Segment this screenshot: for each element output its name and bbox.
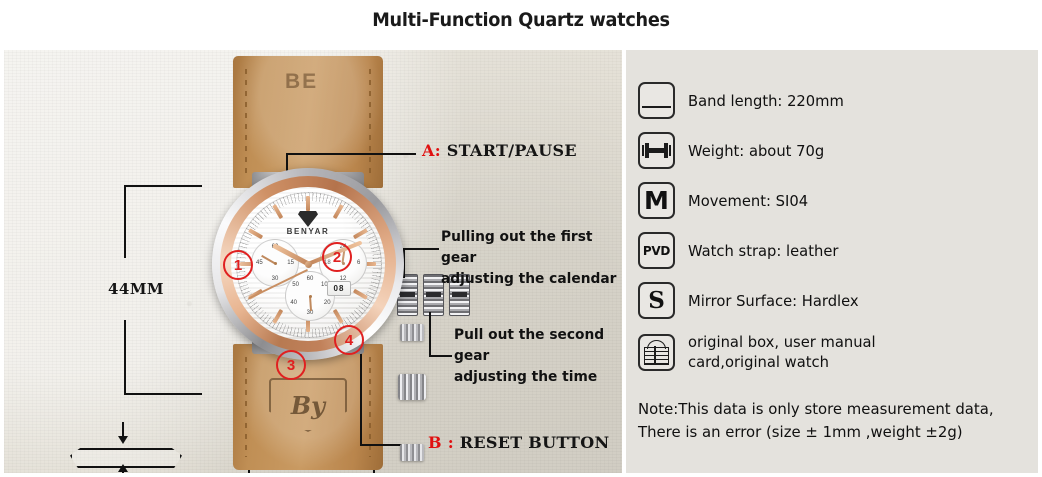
center-pin <box>305 261 312 268</box>
strap-emboss-bottom: By <box>269 378 347 432</box>
spec-weight-text: Weight: about 70g <box>688 141 824 161</box>
subdial-pin <box>309 295 312 298</box>
watch-diagram-panel: 44MM 22MM BE By <box>4 50 622 473</box>
weight-icon-part <box>664 143 668 158</box>
note-line1: Note:This data is only store measurement… <box>638 398 1022 421</box>
case-width-label: 44MM <box>101 280 171 298</box>
callout-a-label: A: START/PAUSE <box>422 141 577 160</box>
callout-badge-2: 2 <box>322 242 352 272</box>
spec-row-movement: M Movement: SI04 <box>638 182 1034 219</box>
subdial-tick: 40 <box>290 300 297 306</box>
spec-row-mirror-surface: S Mirror Surface: Hardlex <box>638 282 1034 319</box>
arrow-down-icon <box>122 422 124 438</box>
second-gear-note-line1: Pull out the second gear <box>454 325 622 367</box>
second-gear-leader-horizontal <box>429 355 452 357</box>
specifications-panel: Band length: 220mm Weight: about 70g M M… <box>626 50 1038 473</box>
callout-b-label: B : RESET BUTTON <box>428 433 609 452</box>
gift-box-icon <box>638 334 675 371</box>
brand-name: BENYAR <box>231 227 385 236</box>
watch-dial: BENYAR 60 15 30 45 24 6 <box>231 187 385 341</box>
spec-movement-text: Movement: SI04 <box>688 191 808 211</box>
callout-badge-3: 3 <box>276 350 306 380</box>
first-gear-note-line1: Pulling out the first gear <box>441 227 622 269</box>
start-pause-pusher <box>400 324 424 341</box>
reset-pusher <box>400 444 424 461</box>
callout-a-text: START/PAUSE <box>447 141 577 160</box>
stitch-right <box>369 357 371 458</box>
gift-box-body <box>644 347 669 365</box>
bottom-subdial: 60 10 20 30 40 50 <box>285 271 335 321</box>
movement-icon-glyph: M <box>644 186 669 215</box>
spec-package-text: original box, user manual card,original … <box>688 332 876 372</box>
date-window: 08 <box>327 281 351 296</box>
movement-icon: M <box>638 182 675 219</box>
subdial-tick: 30 <box>272 276 279 282</box>
strap-emboss-top: BE <box>285 70 318 94</box>
callout-a-leader-horizontal <box>286 153 416 155</box>
second-gear-note-line2: adjusting the time <box>454 367 622 388</box>
second-gear-leader-vertical <box>429 312 431 357</box>
subdial-tick: 45 <box>256 260 263 266</box>
dial-thickness-diagram: Dial thickness: 14mm <box>48 422 223 473</box>
subdial-tick: 50 <box>292 282 299 288</box>
callout-badge-1: 1 <box>223 250 253 280</box>
spec-row-band-length: Band length: 220mm <box>638 82 1034 119</box>
stitch-right <box>369 69 371 175</box>
arrow-up-icon <box>122 472 124 473</box>
mirror-surface-icon: S <box>638 282 675 319</box>
first-gear-note-line2: adjusting the calendar <box>441 269 622 290</box>
spec-row-watch-strap: PVD Watch strap: leather <box>638 232 1034 269</box>
spec-row-weight: Weight: about 70g <box>638 132 1034 169</box>
callout-badge-4: 4 <box>334 325 364 355</box>
stitch-left <box>245 69 247 175</box>
spec-watch-strap-text: Watch strap: leather <box>688 241 838 261</box>
weight-icon <box>638 132 675 169</box>
measure-44mm-lower-line <box>124 320 126 395</box>
page-title: Multi-Function Quartz watches <box>36 2 1005 42</box>
band-length-icon <box>638 82 675 119</box>
watch-crown <box>398 374 426 400</box>
stitch-left <box>245 357 247 458</box>
hour-index <box>306 196 310 211</box>
disclaimer-note: Note:This data is only store measurement… <box>638 398 1022 444</box>
spec-list: Band length: 220mm Weight: about 70g M M… <box>638 82 1034 385</box>
subdial-tick: 30 <box>307 310 314 316</box>
note-line2: There is an error (size ± 1mm ,weight ±2… <box>638 421 1022 444</box>
spec-row-package: original box, user manual card,original … <box>638 332 1034 372</box>
measure-44mm-upper-line <box>124 185 126 258</box>
subdial-tick: 15 <box>287 260 294 266</box>
pvd-icon-glyph: PVD <box>643 244 670 258</box>
pvd-icon: PVD <box>638 232 675 269</box>
callout-b-tag: B : <box>428 433 454 452</box>
subdial-tick: 6 <box>357 260 360 266</box>
subdial-hand <box>309 296 312 311</box>
spec-mirror-surface-text: Mirror Surface: Hardlex <box>688 291 859 311</box>
mirror-surface-icon-glyph: S <box>648 287 665 314</box>
spec-band-length-text: Band length: 220mm <box>688 91 844 111</box>
subdial-tick: 20 <box>324 300 331 306</box>
weight-icon-part <box>642 145 644 156</box>
subdial-pin <box>274 262 277 265</box>
second-gear-note: Pull out the second gear adjusting the t… <box>454 325 622 388</box>
infographic-panel: 44MM 22MM BE By <box>4 50 1038 473</box>
first-gear-note: Pulling out the first gear adjusting the… <box>441 227 622 290</box>
weight-icon-part <box>669 145 671 156</box>
callout-a-tag: A: <box>422 141 441 160</box>
weight-icon-part <box>649 148 664 153</box>
subdial-tick: 60 <box>307 276 314 282</box>
callout-b-text: RESET BUTTON <box>460 433 610 452</box>
